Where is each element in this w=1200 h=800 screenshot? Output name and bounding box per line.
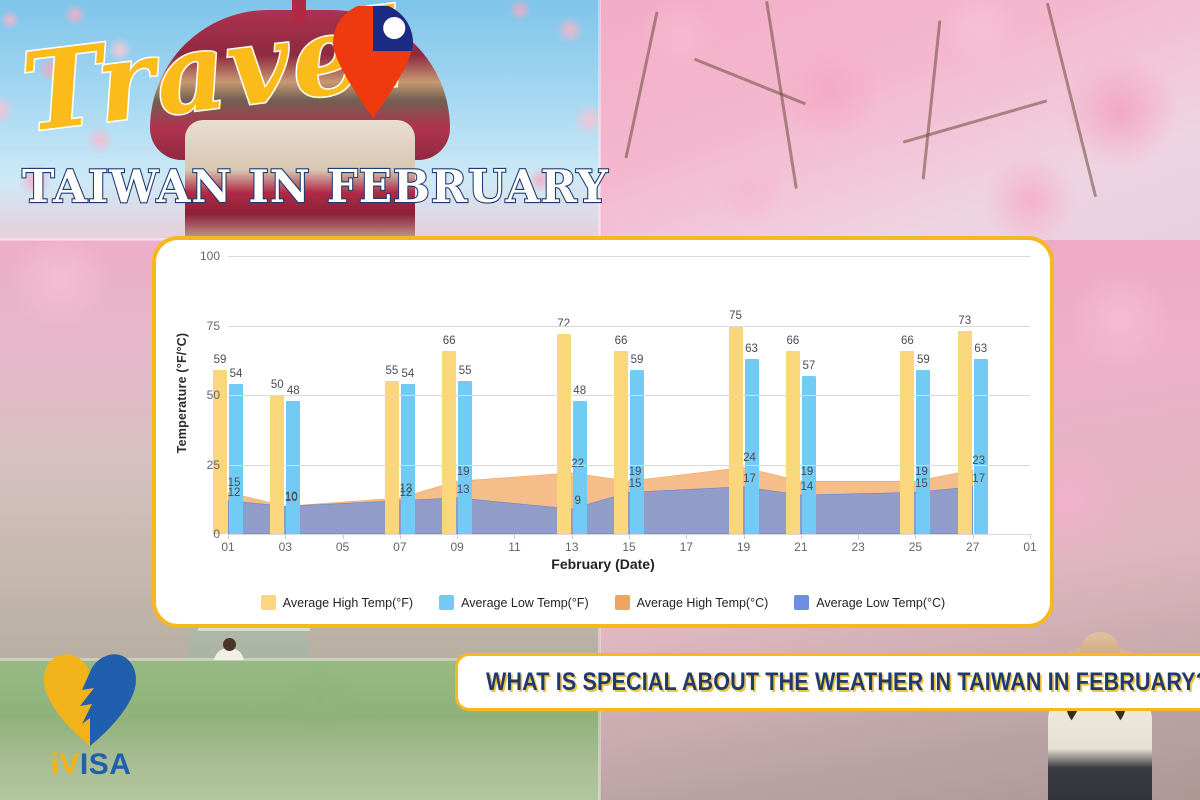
x-tick-mark xyxy=(400,534,401,539)
x-tick-label: 23 xyxy=(851,540,864,554)
x-tick-mark xyxy=(514,534,515,539)
plot-canvas: 5954504855546655724866597563665766597363… xyxy=(228,256,1030,534)
area-high-celsius-label: 19 xyxy=(800,466,813,478)
area-high-celsius-label: 24 xyxy=(743,452,756,464)
bar-value-label: 55 xyxy=(385,365,398,377)
bar-high-f xyxy=(442,351,456,534)
area-low-celsius-label: 10 xyxy=(285,492,298,504)
chart-legend: Average High Temp(°F)Average Low Temp(°F… xyxy=(156,595,1050,610)
x-tick-mark xyxy=(973,534,974,539)
bar-value-label: 63 xyxy=(745,343,758,355)
y-tick-label: 0 xyxy=(213,527,220,541)
x-tick-label: 25 xyxy=(909,540,922,554)
x-tick-label: 19 xyxy=(737,540,750,554)
gridline xyxy=(228,465,1030,466)
bar-high-f xyxy=(557,334,571,534)
x-tick-mark xyxy=(343,534,344,539)
bar-high-f xyxy=(786,351,800,534)
question-banner: WHAT IS SPECIAL ABOUT THE WEATHER IN TAI… xyxy=(455,653,1200,711)
bar-low-f xyxy=(229,384,243,534)
x-tick-label: 09 xyxy=(450,540,463,554)
logo-letters-isa: ISA xyxy=(80,748,132,781)
x-tick-mark xyxy=(285,534,286,539)
bar-value-label: 54 xyxy=(401,368,414,380)
bar-value-label: 66 xyxy=(901,335,914,347)
gridline xyxy=(228,326,1030,327)
bar-value-label: 54 xyxy=(230,368,243,380)
bar-high-f xyxy=(729,326,743,535)
area-low-celsius-label: 12 xyxy=(228,487,241,499)
legend-item[interactable]: Average Low Temp(°C) xyxy=(794,595,945,610)
y-tick-label: 75 xyxy=(207,319,220,333)
bar-value-label: 72 xyxy=(557,318,570,330)
x-tick-label: 17 xyxy=(680,540,693,554)
x-tick-mark xyxy=(801,534,802,539)
x-tick-label: 05 xyxy=(336,540,349,554)
bar-value-label: 66 xyxy=(443,335,456,347)
bar-high-f xyxy=(958,331,972,534)
bar-value-label: 66 xyxy=(786,335,799,347)
bar-value-label: 57 xyxy=(802,360,815,372)
bar-value-label: 59 xyxy=(214,354,227,366)
x-tick-mark xyxy=(915,534,916,539)
x-tick-label: 01 xyxy=(221,540,234,554)
x-tick-mark xyxy=(457,534,458,539)
legend-swatch xyxy=(439,595,454,610)
bar-high-f xyxy=(900,351,914,534)
y-tick-label: 25 xyxy=(207,458,220,472)
bar-low-f xyxy=(802,376,816,534)
x-axis-title: February (Date) xyxy=(156,556,1050,572)
area-low-celsius-label: 12 xyxy=(399,487,412,499)
bar-value-label: 63 xyxy=(974,343,987,355)
x-tick-label: 11 xyxy=(508,540,520,554)
y-tick-label: 100 xyxy=(200,249,220,263)
area-low-celsius-label: 9 xyxy=(575,495,581,507)
x-tick-mark xyxy=(572,534,573,539)
bar-value-label: 59 xyxy=(917,354,930,366)
bar-low-f xyxy=(458,381,472,534)
x-tick-mark xyxy=(744,534,745,539)
x-tick-label: 03 xyxy=(279,540,292,554)
x-tick-label: 13 xyxy=(565,540,578,554)
ivisa-logo[interactable]: iVISA xyxy=(36,648,146,788)
legend-swatch xyxy=(615,595,630,610)
taiwan-flag-pin-icon xyxy=(333,6,413,118)
bar-low-f xyxy=(401,384,415,534)
area-low-celsius-label: 17 xyxy=(972,473,985,485)
gridline xyxy=(228,256,1030,257)
gridline xyxy=(228,395,1030,396)
x-tick-mark xyxy=(858,534,859,539)
area-low-celsius-label: 17 xyxy=(743,473,756,485)
x-tick-label: 15 xyxy=(622,540,635,554)
area-low-celsius-label: 15 xyxy=(915,478,928,490)
plot-area: Temperature (°F/°C) 59545048555466557248… xyxy=(156,240,1058,572)
y-axis-title: Temperature (°F/°C) xyxy=(175,243,189,543)
area-low-celsius-label: 13 xyxy=(457,484,470,496)
y-tick-label: 50 xyxy=(207,388,220,402)
x-tick-mark xyxy=(1030,534,1031,539)
bar-value-label: 75 xyxy=(729,310,742,322)
area-high-celsius-label: 19 xyxy=(629,466,642,478)
x-tick-mark xyxy=(629,534,630,539)
taiwan-sun-icon xyxy=(383,17,405,39)
photo-cherry-blossom-top-right xyxy=(600,0,1200,240)
bar-low-f xyxy=(286,401,300,534)
ivisa-logo-text: iVISA xyxy=(36,748,146,782)
bar-value-label: 59 xyxy=(631,354,644,366)
header-title-block: Travel TAIWAN IN FEBRUARY xyxy=(0,0,600,235)
x-tick-mark xyxy=(686,534,687,539)
bar-value-label: 66 xyxy=(615,335,628,347)
legend-label: Average Low Temp(°C) xyxy=(816,596,945,610)
x-tick-label: 21 xyxy=(794,540,807,554)
ivisa-heart-pin-icon xyxy=(42,648,138,746)
page-title: TAIWAN IN FEBRUARY xyxy=(22,160,609,213)
legend-label: Average High Temp(°C) xyxy=(637,596,769,610)
legend-label: Average High Temp(°F) xyxy=(283,596,413,610)
legend-swatch xyxy=(261,595,276,610)
bar-value-label: 55 xyxy=(459,365,472,377)
legend-item[interactable]: Average Low Temp(°F) xyxy=(439,595,589,610)
area-low-celsius-label: 14 xyxy=(800,481,813,493)
x-tick-label: 01 xyxy=(1023,540,1036,554)
x-tick-mark xyxy=(228,534,229,539)
legend-item[interactable]: Average High Temp(°F) xyxy=(261,595,413,610)
x-tick-label: 27 xyxy=(966,540,979,554)
bar-value-label: 50 xyxy=(271,379,284,391)
weather-chart-card: Temperature (°F/°C) 59545048555466557248… xyxy=(152,236,1054,628)
bar-high-f xyxy=(385,381,399,534)
legend-label: Average Low Temp(°F) xyxy=(461,596,589,610)
bar-low-f xyxy=(745,359,759,534)
bar-high-f xyxy=(614,351,628,534)
area-high-celsius-label: 19 xyxy=(457,466,470,478)
x-tick-label: 07 xyxy=(393,540,406,554)
area-low-celsius-label: 15 xyxy=(629,478,642,490)
question-banner-text: WHAT IS SPECIAL ABOUT THE WEATHER IN TAI… xyxy=(486,668,1200,697)
legend-swatch xyxy=(794,595,809,610)
legend-item[interactable]: Average High Temp(°C) xyxy=(615,595,769,610)
area-high-celsius-label: 19 xyxy=(915,466,928,478)
logo-letter-v: V xyxy=(59,748,80,781)
bar-low-f xyxy=(974,359,988,534)
